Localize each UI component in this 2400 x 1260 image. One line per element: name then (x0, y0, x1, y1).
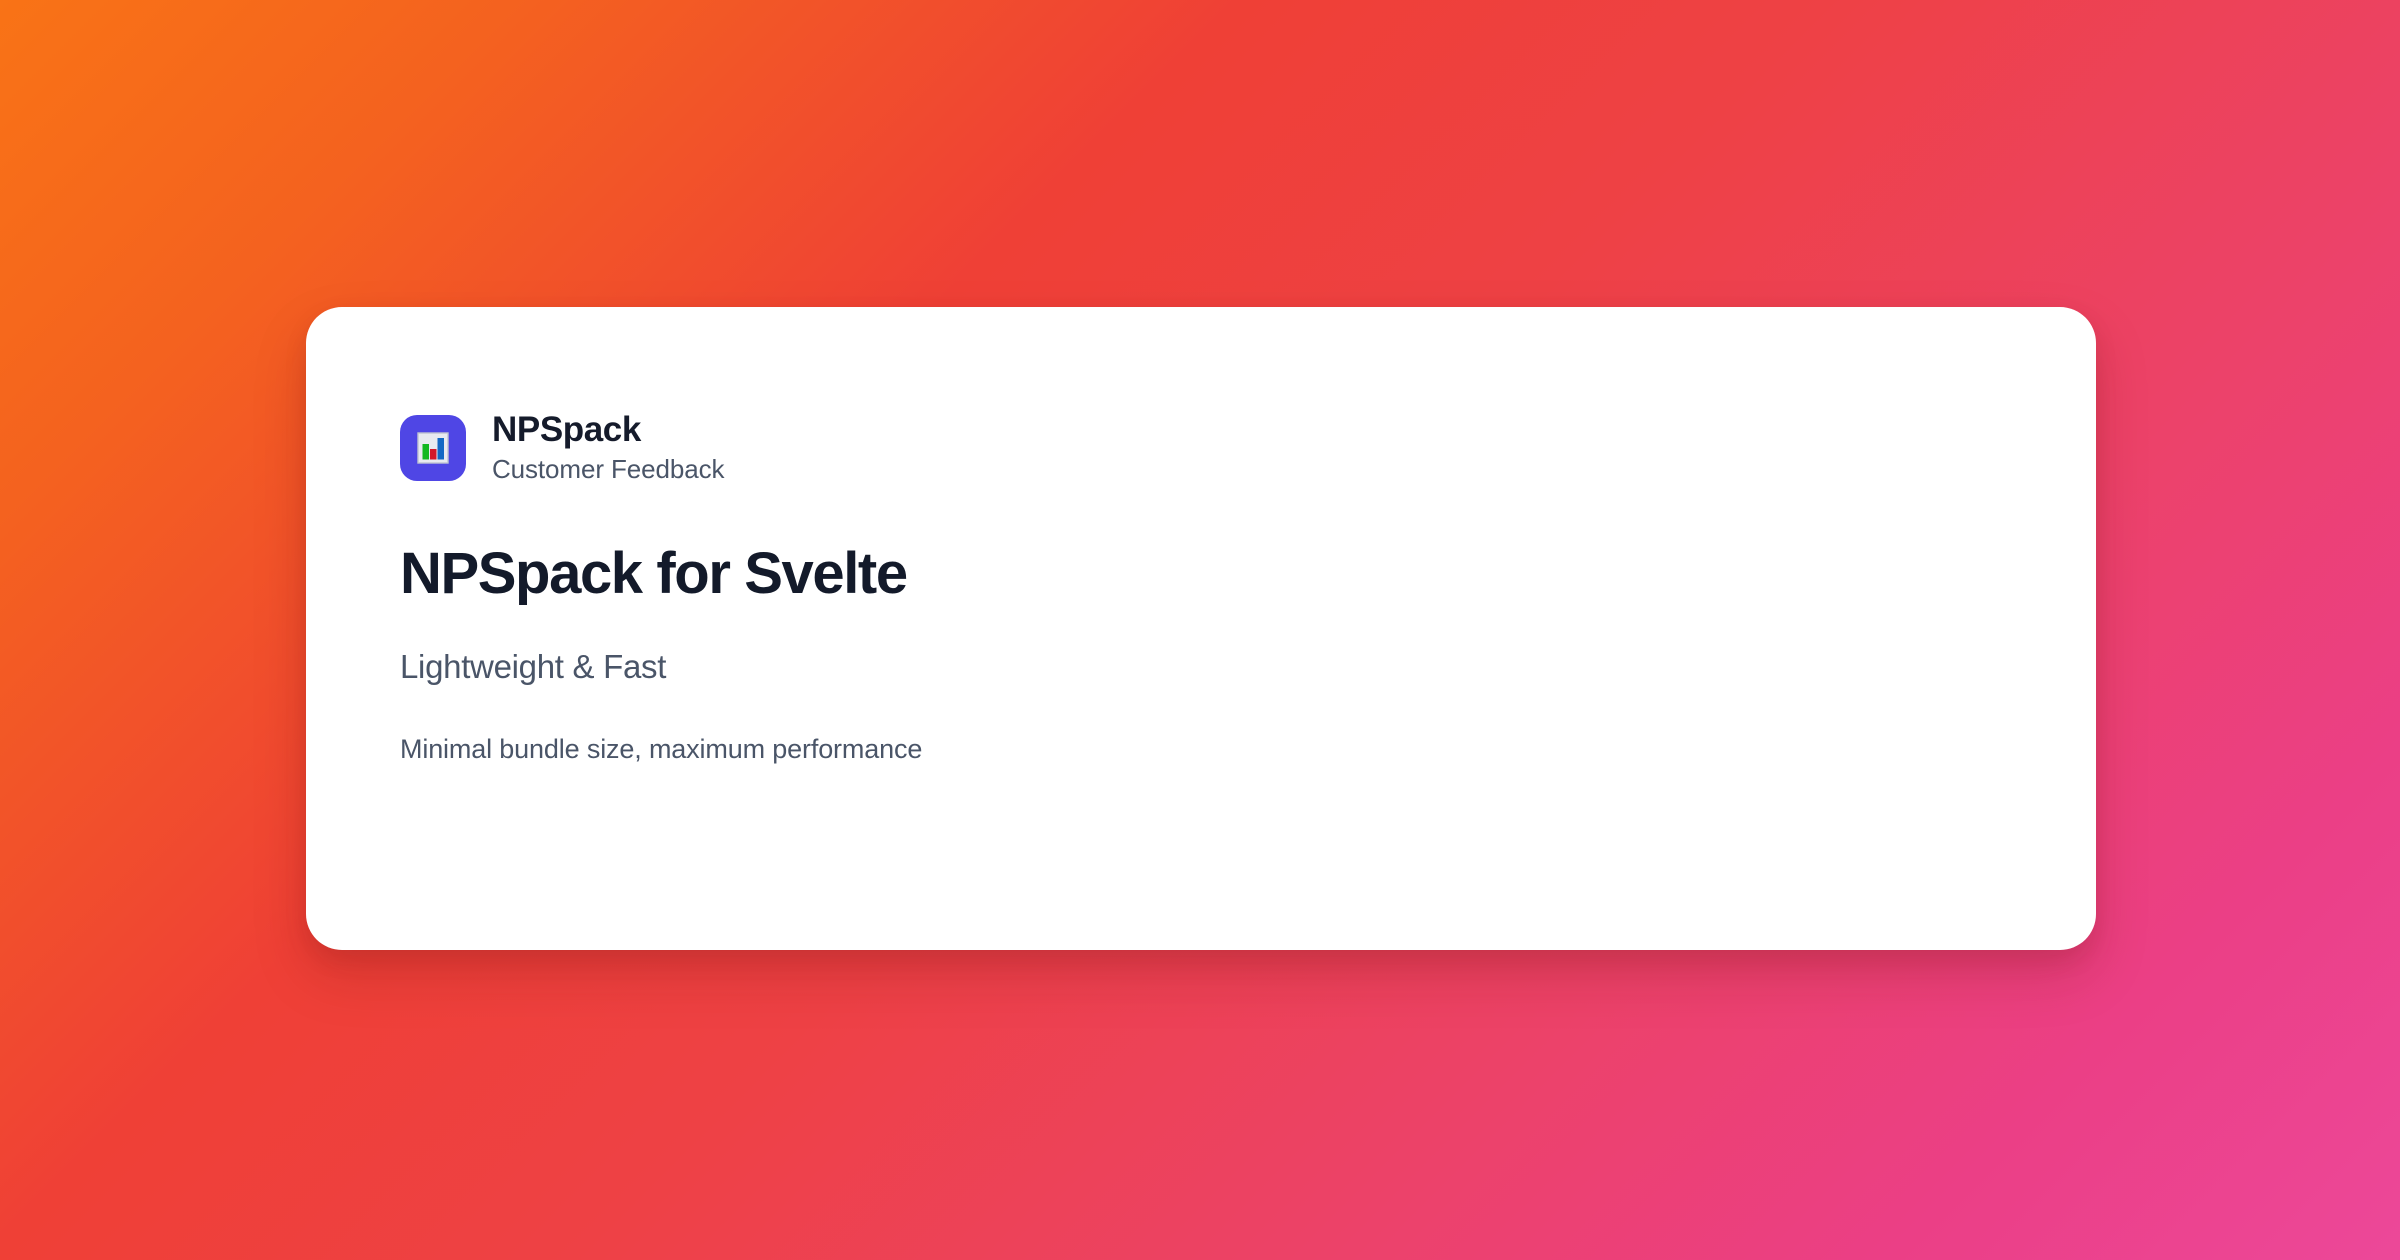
page-description: Minimal bundle size, maximum performance (400, 732, 2096, 767)
bar-chart-icon (413, 428, 453, 468)
page-subtitle: Lightweight & Fast (400, 646, 2096, 687)
brand-header: NPSpack Customer Feedback (400, 410, 2096, 486)
brand-text-group: NPSpack Customer Feedback (492, 409, 724, 486)
product-card: NPSpack Customer Feedback NPSpack for Sv… (306, 307, 2096, 950)
page-title: NPSpack for Svelte (400, 542, 2096, 606)
brand-name: NPSpack (492, 409, 724, 450)
app-icon (400, 415, 466, 481)
brand-tagline: Customer Feedback (492, 453, 724, 487)
